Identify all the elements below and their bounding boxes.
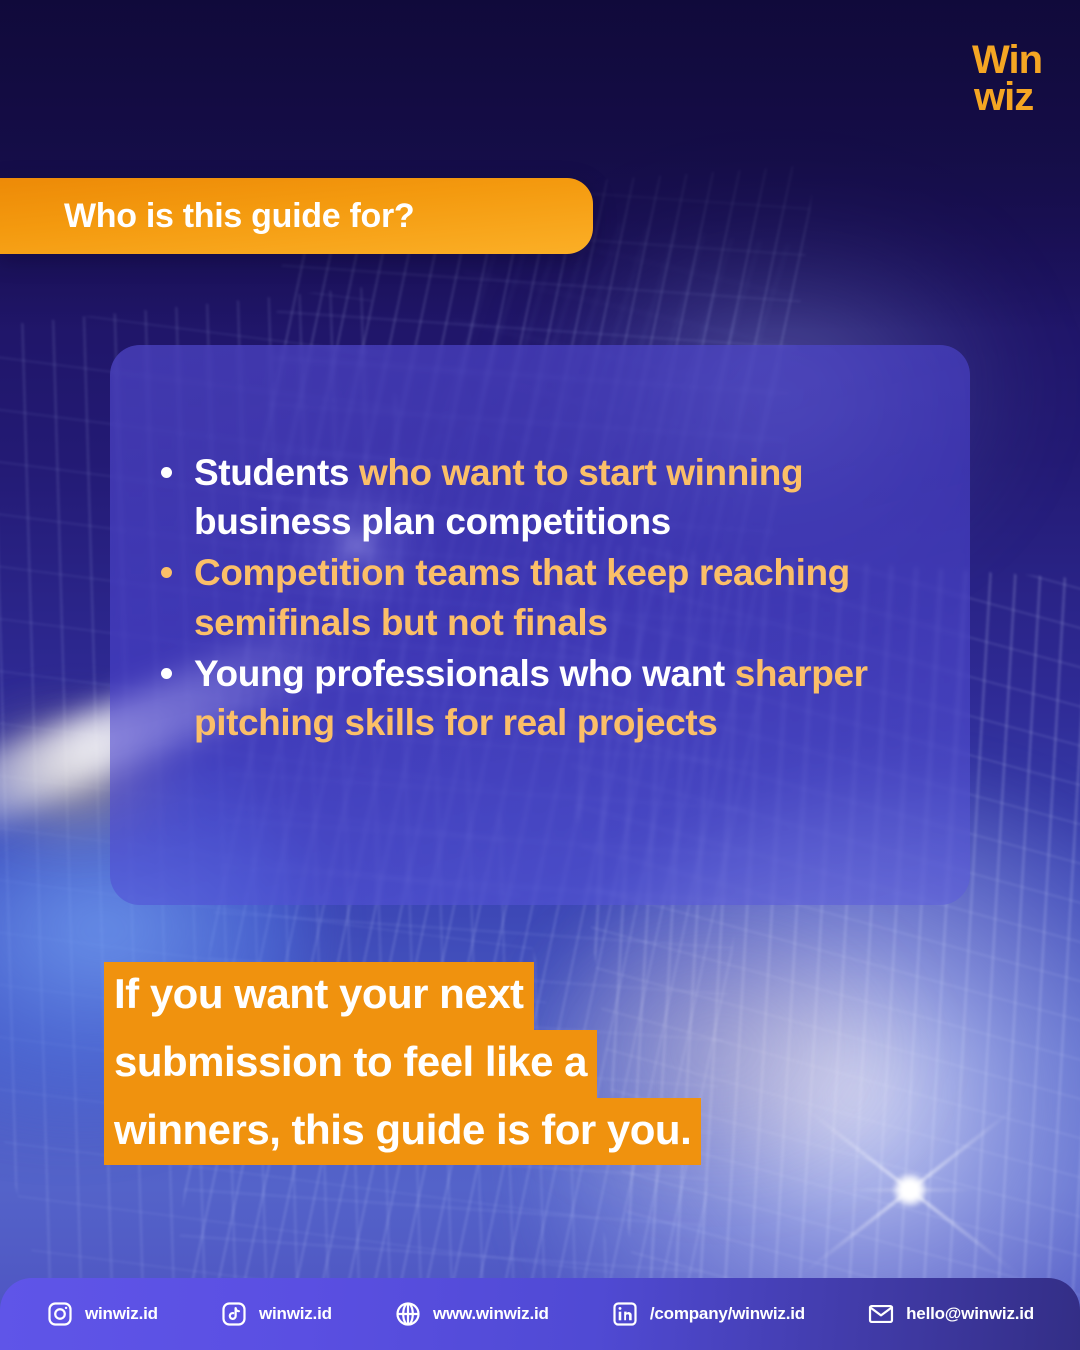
email-icon (867, 1300, 895, 1328)
instagram-icon (46, 1300, 74, 1328)
linkedin-icon (611, 1300, 639, 1328)
list-item: Students who want to start winning busin… (150, 448, 940, 546)
footer-item-instagram[interactable]: winwiz.id (46, 1300, 158, 1328)
bullet-0-amber: who want to start winning (359, 452, 803, 493)
cta-line-3: winners, this guide is for you. (104, 1098, 701, 1166)
page-title: Who is this guide for? (64, 197, 414, 236)
footer-label-email: hello@winwiz.id (906, 1304, 1034, 1324)
social-footer-bar: winwiz.id winwiz.id www.winwiz.id (0, 1278, 1080, 1350)
logo-line-1: Win (972, 42, 1042, 79)
top-vignette (0, 0, 1080, 330)
cta-line-3-wrap: winners, this guide is for you. (104, 1098, 701, 1166)
footer-label-instagram: winwiz.id (85, 1304, 158, 1324)
footer-item-tiktok[interactable]: winwiz.id (220, 1300, 332, 1328)
logo-line-2: wiz (974, 79, 1042, 116)
bullet-1-amber: Competition teams that keep reaching sem… (194, 552, 850, 642)
globe-icon (394, 1300, 422, 1328)
footer-item-email[interactable]: hello@winwiz.id (867, 1300, 1034, 1328)
footer-item-linkedin[interactable]: /company/winwiz.id (611, 1300, 805, 1328)
winwiz-logo: Win wiz (972, 42, 1042, 116)
footer-item-website[interactable]: www.winwiz.id (394, 1300, 549, 1328)
footer-label-tiktok: winwiz.id (259, 1304, 332, 1324)
footer-label-website: www.winwiz.id (433, 1304, 549, 1324)
cta-paragraph: If you want your next submission to feel… (104, 962, 701, 1165)
audience-bullet-list: Students who want to start winning busin… (150, 448, 940, 749)
section-header-banner: Who is this guide for? (0, 178, 593, 254)
bullet-0-white: Students (194, 452, 359, 493)
cta-line-1-wrap: If you want your next (104, 962, 701, 1030)
list-item: Competition teams that keep reaching sem… (150, 548, 940, 646)
tiktok-icon (220, 1300, 248, 1328)
bullet-2-white: Young professionals who want (194, 653, 735, 694)
cta-line-2: submission to feel like a (104, 1030, 597, 1098)
footer-label-linkedin: /company/winwiz.id (650, 1304, 805, 1324)
bullet-0-white-tail: business plan competitions (194, 501, 671, 542)
list-item: Young professionals who want sharper pit… (150, 649, 940, 747)
cta-line-2-wrap: submission to feel like a (104, 1030, 701, 1098)
cta-line-1: If you want your next (104, 962, 534, 1030)
